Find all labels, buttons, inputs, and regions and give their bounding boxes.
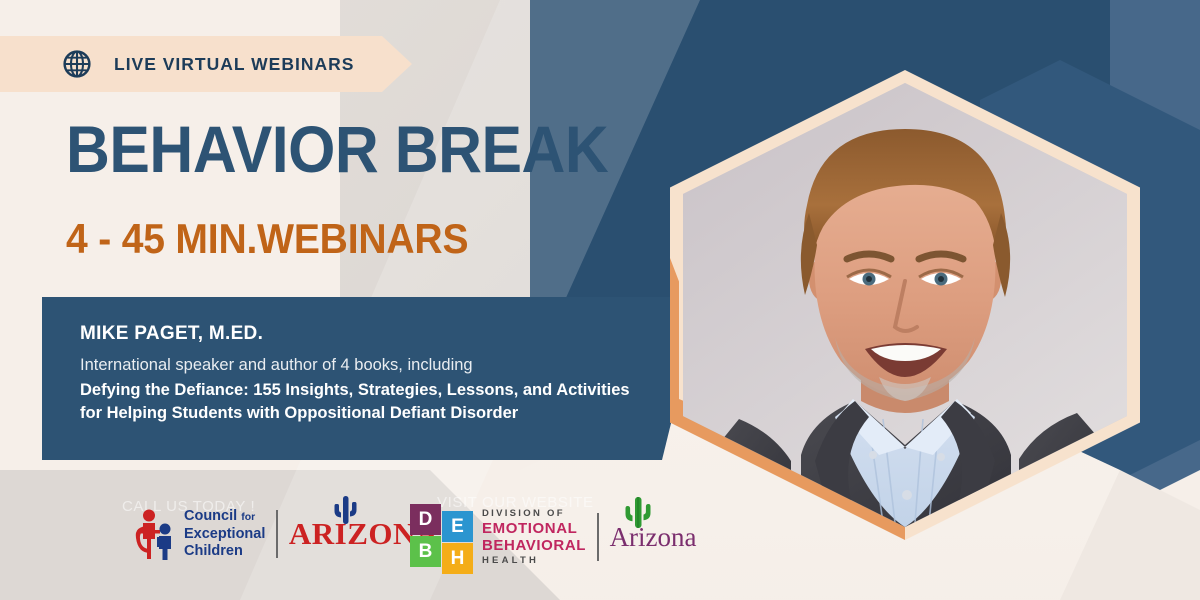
globe-icon <box>62 49 92 79</box>
cec-line-3: Children <box>184 543 265 560</box>
debh-block-e: E <box>442 511 473 542</box>
debh-block-d: D <box>410 504 441 535</box>
speaker-credit: International speaker and author of 4 bo… <box>80 354 702 376</box>
cec-word-council: Council <box>184 508 237 524</box>
logo-divider <box>597 513 599 561</box>
partner-logos: Council for Exceptional Children ARIZONA… <box>0 498 700 588</box>
green-cactus-icon <box>624 496 652 528</box>
debh-line-division-of: DIVISION OF <box>482 509 586 519</box>
speaker-portrait-hexagon <box>670 70 1140 540</box>
cec-line-1: Council for <box>184 508 265 526</box>
webinar-promo-poster: LIVE VIRTUAL WEBINARS BEHAVIOR BREAK 4 -… <box>0 0 1200 600</box>
cec-figures-icon <box>132 508 178 560</box>
debh-wordmark: DIVISION OF EMOTIONAL BEHAVIORAL HEALTH <box>482 509 586 566</box>
debh-block-b: B <box>410 536 441 567</box>
speaker-book-title-line2: for Helping Students with Oppositional D… <box>80 402 700 425</box>
logo-council-exceptional-children-arizona: Council for Exceptional Children ARIZONA <box>132 508 439 560</box>
speaker-book-title-line1: Defying the Defiance: 155 Insights, Stra… <box>80 379 700 402</box>
logo-division-emotional-behavioral-health-arizona: D E B H DIVISION OF EMOTIONAL BEHAVIORAL… <box>410 504 697 570</box>
debh-arizona-wordmark: Arizona <box>610 522 697 553</box>
cec-word-for: for <box>241 511 255 523</box>
speaker-name: MIKE PAGET, M.ED. <box>80 323 702 345</box>
speaker-info-panel: MIKE PAGET, M.ED. International speaker … <box>42 297 702 460</box>
cec-wordmark: Council for Exceptional Children <box>184 508 265 560</box>
page-subtitle: 4 - 45 MIN.WEBINARS <box>66 216 468 262</box>
blue-cactus-icon <box>333 494 358 524</box>
debh-line-behavioral: BEHAVIORAL <box>482 538 586 553</box>
banner-label: LIVE VIRTUAL WEBINARS <box>114 54 354 75</box>
debh-letter-blocks: D E B H <box>410 504 476 570</box>
page-title: BEHAVIOR BREAK <box>66 114 608 184</box>
debh-line-health: HEALTH <box>482 556 586 566</box>
debh-block-h: H <box>442 543 473 574</box>
live-webinar-banner: LIVE VIRTUAL WEBINARS <box>0 36 412 92</box>
cec-line-2: Exceptional <box>184 526 265 543</box>
logo-divider <box>276 510 278 558</box>
debh-line-emotional: EMOTIONAL <box>482 521 586 536</box>
